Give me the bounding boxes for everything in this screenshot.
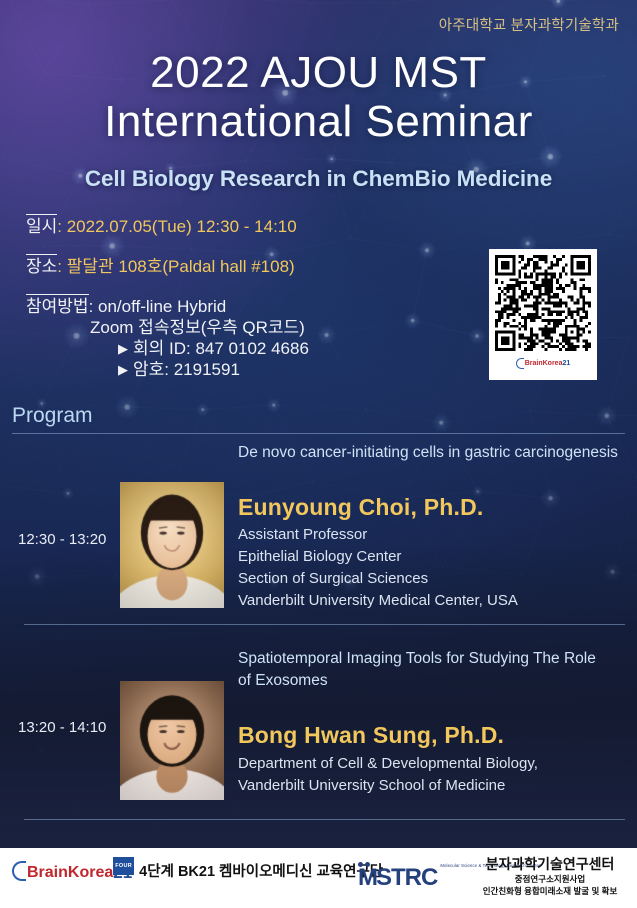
mstrc-wordmark: MSTRC bbox=[358, 868, 437, 888]
brainkorea-word: BrainKorea bbox=[27, 865, 113, 881]
session-divider-1 bbox=[24, 624, 625, 625]
session-2-talk-title: Spatiotemporal Imaging Tools for Studyin… bbox=[238, 648, 603, 692]
triangle-bullet-icon: ▶ bbox=[118, 359, 128, 380]
page-title: 2022 AJOU MST International Seminar bbox=[0, 48, 637, 146]
affiliation-line: Department of Cell & Developmental Biolo… bbox=[238, 753, 628, 775]
place-label: 장소 bbox=[26, 254, 57, 277]
mstrc-mark: MSTRC bbox=[358, 862, 437, 888]
session-1-talk-title: De novo cancer-initiating cells in gastr… bbox=[238, 442, 633, 464]
qr-caption-brainkorea21: BrainKorea21 bbox=[495, 351, 591, 375]
qr-caption-red: BrainKorea bbox=[525, 360, 563, 367]
meeting-id-text: 회의 ID: 847 0102 4686 bbox=[133, 339, 309, 358]
affiliation-line: Vanderbilt University Medical Center, US… bbox=[238, 590, 628, 612]
session-1-affiliation: Assistant Professor Epithelial Biology C… bbox=[238, 524, 628, 612]
affiliation-line: Section of Surgical Sciences bbox=[238, 568, 628, 590]
brainkorea-four-tag: FOUR bbox=[113, 857, 134, 875]
qr-code-image[interactable] bbox=[495, 255, 591, 351]
footer-brainkorea-block: BrainKorea FOUR21 4단계 BK21 켐바이오메디신 교육연구단 bbox=[12, 860, 383, 881]
passcode-text: 암호: 2191591 bbox=[133, 360, 240, 379]
qr-code-panel[interactable]: BrainKorea21 bbox=[489, 249, 597, 380]
affiliation-line: Vanderbilt University School of Medicine bbox=[238, 775, 628, 797]
date-value: : 2022.07.05(Tue) 12:30 - 14:10 bbox=[57, 217, 296, 236]
detail-row-place: 장소: 팔달관 108호(Paldal hall #108) bbox=[26, 254, 456, 277]
session-1-speaker-name: Eunyoung Choi, Ph.D. bbox=[238, 494, 483, 521]
brainkorea-21: FOUR21 bbox=[113, 865, 132, 881]
passcode-line: ▶암호: 2191591 bbox=[118, 359, 456, 380]
detail-row-join: 참여방법: on/off-line Hybrid Zoom 접속정보(우측 QR… bbox=[26, 294, 456, 380]
brainkorea21-logo: BrainKorea FOUR21 bbox=[12, 861, 132, 881]
program-heading-rule bbox=[12, 433, 625, 434]
zoom-info-line: Zoom 접속정보(우측 QR코드) bbox=[90, 317, 456, 338]
qr-caption-blue: 21 bbox=[562, 360, 570, 367]
footer-center-block: 분자과학기술연구센터 중점연구소지원사업 인간친화형 융합미래소재 발굴 및 확… bbox=[470, 856, 630, 897]
center-subtitle-2: 인간친화형 융합미래소재 발굴 및 확보 bbox=[470, 885, 630, 897]
session-2-time: 13:20 - 14:10 bbox=[18, 719, 106, 736]
affiliation-line: Epithelial Biology Center bbox=[238, 546, 628, 568]
brainkorea-arc-icon bbox=[12, 861, 26, 881]
poster-footer: BrainKorea FOUR21 4단계 BK21 켐바이오메디신 교육연구단… bbox=[0, 848, 637, 908]
session-2-speaker-photo bbox=[120, 681, 224, 800]
session-1-time: 12:30 - 13:20 bbox=[18, 531, 106, 548]
session-1-speaker-photo bbox=[120, 482, 224, 608]
footer-brainkorea-text: 4단계 BK21 켐바이오메디신 교육연구단 bbox=[139, 860, 383, 881]
page-subtitle: Cell Biology Research in ChemBio Medicin… bbox=[0, 166, 637, 192]
join-value: : on/off-line Hybrid bbox=[89, 297, 227, 316]
session-2-affiliation: Department of Cell & Developmental Biolo… bbox=[238, 753, 628, 797]
detail-row-date: 일시: 2022.07.05(Tue) 12:30 - 14:10 bbox=[26, 214, 456, 237]
department-label: 아주대학교 분자과학기술학과 bbox=[439, 14, 619, 35]
event-details: 일시: 2022.07.05(Tue) 12:30 - 14:10 장소: 팔달… bbox=[26, 214, 456, 397]
affiliation-line: Assistant Professor bbox=[238, 524, 628, 546]
program-heading: Program bbox=[12, 404, 93, 428]
session-divider-2 bbox=[24, 819, 625, 820]
place-value: : 팔달관 108호(Paldal hall #108) bbox=[57, 257, 294, 276]
meeting-id-line: ▶회의 ID: 847 0102 4686 bbox=[118, 338, 456, 359]
title-line-2: International Seminar bbox=[0, 97, 637, 146]
seminar-poster: 아주대학교 분자과학기술학과 2022 AJOU MST Internation… bbox=[0, 0, 637, 908]
brainkorea-arc-icon bbox=[516, 358, 524, 369]
session-2-speaker-name: Bong Hwan Sung, Ph.D. bbox=[238, 722, 504, 749]
date-label: 일시 bbox=[26, 214, 57, 237]
triangle-bullet-icon: ▶ bbox=[118, 338, 128, 359]
join-label: 참여방법 bbox=[26, 294, 89, 317]
title-line-1: 2022 AJOU MST bbox=[0, 48, 637, 97]
center-subtitle-1: 중점연구소지원사업 bbox=[470, 873, 630, 885]
join-method-line: 참여방법: on/off-line Hybrid bbox=[26, 294, 456, 317]
center-name: 분자과학기술연구센터 bbox=[470, 856, 630, 873]
